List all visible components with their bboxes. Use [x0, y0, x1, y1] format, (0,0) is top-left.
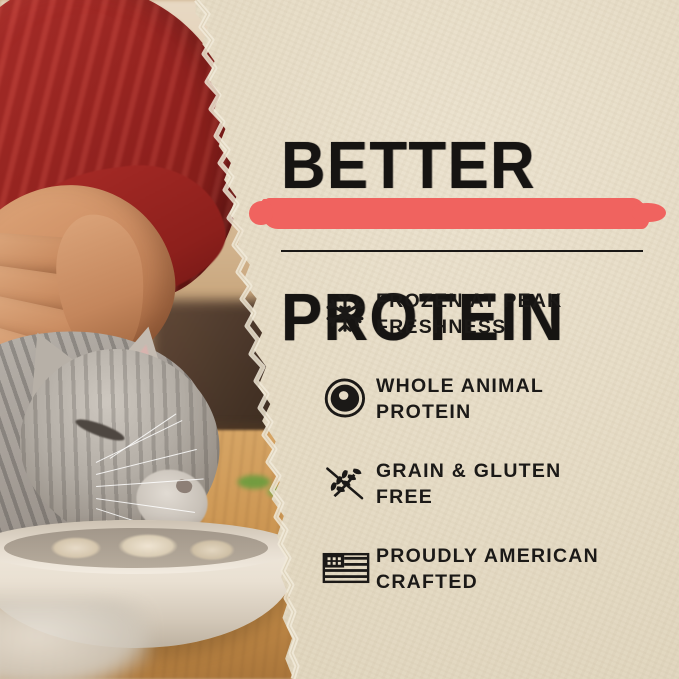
- feature-list: FROZEN AT PEAK FRESHNESS WHOLE ANIMAL PR…: [322, 287, 662, 627]
- list-item-label: WHOLE ANIMAL PROTEIN: [376, 372, 544, 425]
- american-flag-icon: [322, 542, 376, 592]
- product-feature-graphic: BETTER PROTEIN: [0, 0, 679, 679]
- list-item-label: GRAIN & GLUTEN FREE: [376, 457, 561, 510]
- horizontal-divider: [281, 250, 643, 252]
- list-item: WHOLE ANIMAL PROTEIN: [322, 372, 662, 434]
- steak-icon: [322, 372, 376, 422]
- wheat-crossed-out-icon: [322, 457, 376, 507]
- red-brush-underline: [262, 198, 646, 229]
- snowflake-icon: [322, 287, 376, 337]
- list-item-label: PROUDLY AMERICAN CRAFTED: [376, 542, 599, 595]
- list-item: GRAIN & GLUTEN FREE: [322, 457, 662, 519]
- list-item: FROZEN AT PEAK FRESHNESS: [322, 287, 662, 349]
- title-line-1: BETTER: [281, 128, 565, 204]
- list-item-label: FROZEN AT PEAK FRESHNESS: [376, 287, 563, 340]
- list-item: PROUDLY AMERICAN CRAFTED: [322, 542, 662, 604]
